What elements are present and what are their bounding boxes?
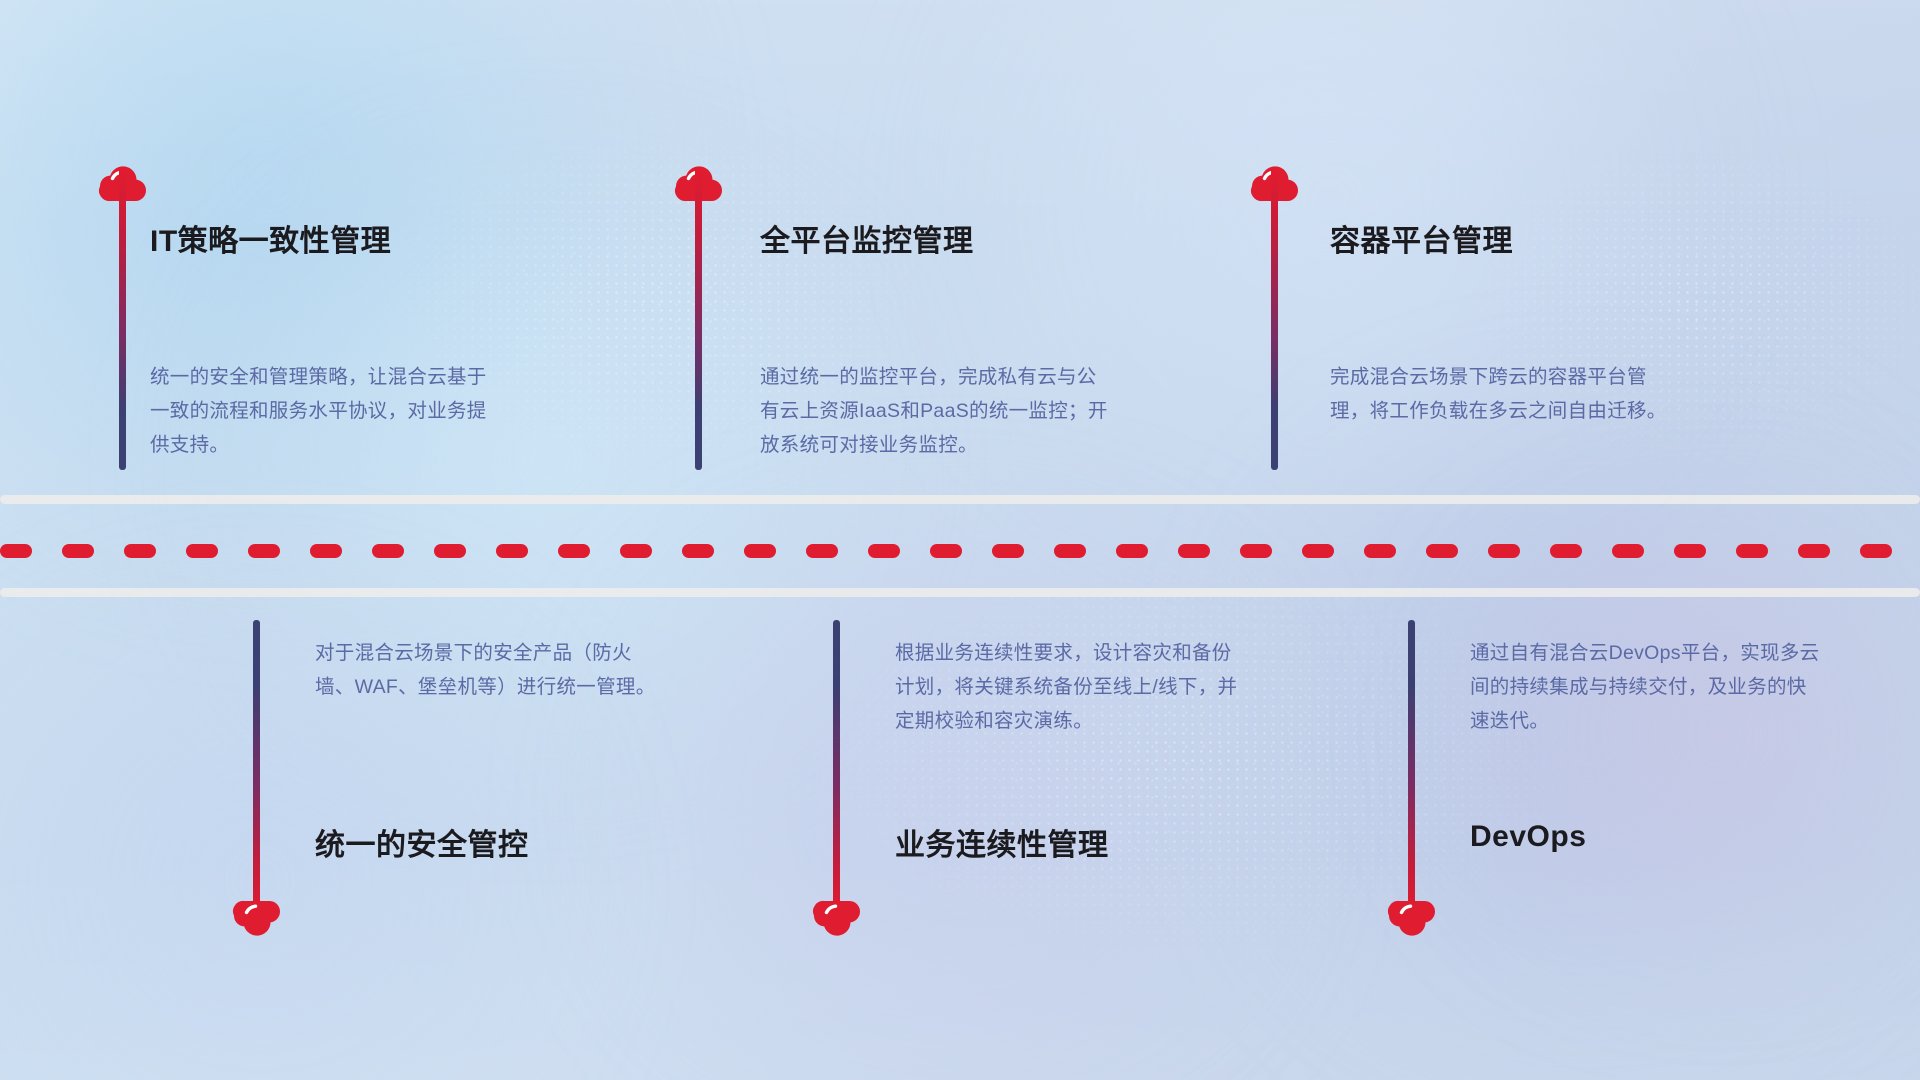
divider-dash [124,544,156,558]
card-heading: 业务连续性管理 [895,820,1109,864]
divider-dash [1178,544,1210,558]
card-body-text: 通过统一的监控平台，完成私有云与公有云上资源IaaS和PaaS的统一监控；开放系… [760,360,1110,462]
connector-line [695,168,702,470]
divider-rail-top [0,495,1920,504]
divider-dash [0,544,32,558]
divider-dash [1054,544,1086,558]
divider-dash [1674,544,1706,558]
card-body-text: 统一的安全和管理策略，让混合云基于一致的流程和服务水平协议，对业务提供支持。 [150,360,500,462]
card-body-text: 通过自有混合云DevOps平台，实现多云间的持续集成与持续交付，及业务的快速迭代… [1470,636,1820,738]
divider-dash [372,544,404,558]
divider-dash [868,544,900,558]
cloud-icon [230,900,284,942]
divider-dash [1240,544,1272,558]
card-heading: DevOps [1470,820,1586,854]
divider-dash [186,544,218,558]
divider-dash [1364,544,1396,558]
divider-dash [930,544,962,558]
card-heading: 全平台监控管理 [760,216,974,260]
divider-dash [1550,544,1582,558]
card-heading: 统一的安全管控 [315,820,529,864]
divider-rail-bottom [0,588,1920,597]
divider-dash [1488,544,1520,558]
connector-line [253,620,260,920]
background-sheen [0,0,1920,1080]
divider-dash [62,544,94,558]
connector-line [119,168,126,470]
divider-dash [434,544,466,558]
divider-dash [558,544,590,558]
divider-dash [248,544,280,558]
connector-line [1271,168,1278,470]
divider-dash [682,544,714,558]
divider-dash [1302,544,1334,558]
dashed-separator [0,544,1920,558]
divider-dash [744,544,776,558]
divider-dash [1860,544,1892,558]
divider-dash [1798,544,1830,558]
divider-dash [806,544,838,558]
divider-dash [1116,544,1148,558]
card-heading: 容器平台管理 [1330,216,1513,260]
divider-dash [310,544,342,558]
card-heading: IT策略一致性管理 [150,216,391,260]
connector-line [833,620,840,920]
divider-dash [1612,544,1644,558]
card-body-text: 完成混合云场景下跨云的容器平台管理，将工作负载在多云之间自由迁移。 [1330,360,1680,428]
divider-dash [496,544,528,558]
divider-dash [992,544,1024,558]
divider-dash [1426,544,1458,558]
connector-line [1408,620,1415,920]
card-body-text: 对于混合云场景下的安全产品（防火墙、WAF、堡垒机等）进行统一管理。 [315,636,665,704]
divider-dash [620,544,652,558]
card-body-text: 根据业务连续性要求，设计容灾和备份计划，将关键系统备份至线上/线下，并定期校验和… [895,636,1245,738]
infographic-canvas: IT策略一致性管理 统一的安全和管理策略，让混合云基于一致的流程和服务水平协议，… [0,0,1920,1080]
cloud-icon [810,900,864,942]
divider-dash [1736,544,1768,558]
cloud-icon [1385,900,1439,942]
